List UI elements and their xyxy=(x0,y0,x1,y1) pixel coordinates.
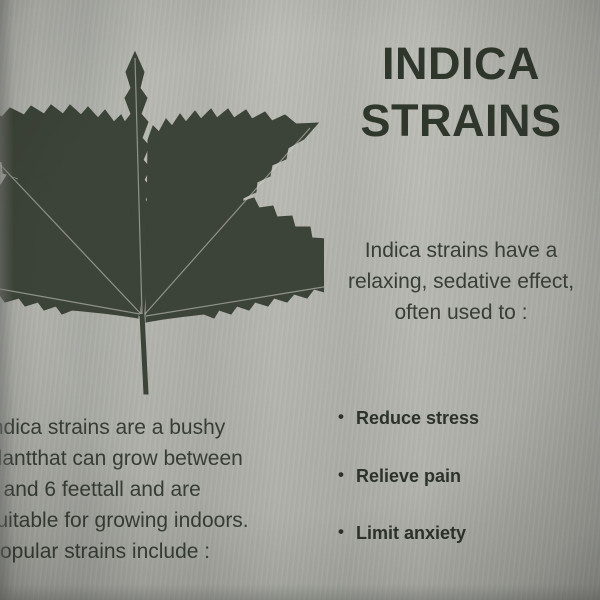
paragraph-line: 3 and 6 feettall and are xyxy=(0,474,326,505)
bullet-dot-icon: • xyxy=(338,523,356,542)
list-item: • Relieve pain xyxy=(338,466,598,487)
paragraph-line: plantthat can grow between xyxy=(0,443,326,474)
slide-image: INDICA STRAINS Indica strains have a rel… xyxy=(0,0,600,600)
subtitle-text: Indica strains have a relaxing, sedative… xyxy=(330,236,592,329)
description-paragraph: Indica strains are a bushy plantthat can… xyxy=(0,412,326,567)
paragraph-line: Indica strains are a bushy xyxy=(0,412,326,443)
paragraph-line: suitable for growing indoors. xyxy=(0,505,326,536)
list-item-label: Relieve pain xyxy=(356,466,461,487)
list-item: • Reduce stress xyxy=(338,408,598,429)
cannabis-leaf-icon xyxy=(0,22,324,402)
list-item-label: Limit anxiety xyxy=(356,523,466,544)
paragraph-line: Popular strains include : xyxy=(0,536,326,567)
page-title: INDICA STRAINS xyxy=(330,36,592,149)
title-line-2: STRAINS xyxy=(330,93,592,150)
list-item-label: Reduce stress xyxy=(356,408,479,429)
bullet-dot-icon: • xyxy=(338,466,356,485)
title-line-1: INDICA xyxy=(330,36,592,93)
bullet-dot-icon: • xyxy=(338,408,356,427)
effects-bullet-list: • Reduce stress • Relieve pain • Limit a… xyxy=(338,408,598,581)
list-item: • Limit anxiety xyxy=(338,523,598,544)
